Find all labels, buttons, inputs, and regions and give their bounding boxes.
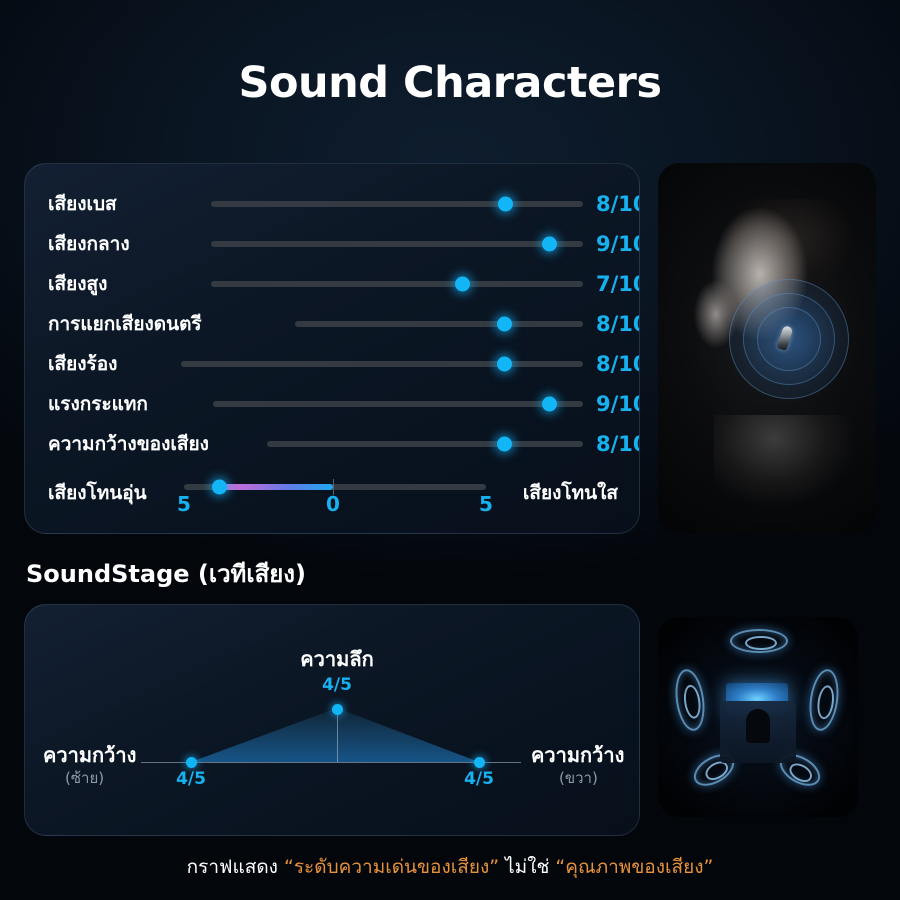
bipolar-left-label: เสียงโทนอุ่น bbox=[48, 478, 147, 508]
slider-value: 7/10 bbox=[596, 272, 640, 296]
slider-value: 9/10 bbox=[596, 392, 640, 416]
page-root: Sound Characters เสียงเบส8/10เสียงกลาง9/… bbox=[0, 0, 900, 900]
soundstage-area-fill bbox=[25, 605, 640, 836]
neck-shape bbox=[714, 415, 864, 534]
slider-knob[interactable] bbox=[542, 237, 557, 252]
slider-knob[interactable] bbox=[455, 277, 470, 292]
slider-row: เสียงเบส8/10 bbox=[25, 184, 640, 224]
footer-part2: ไม่ใช่ bbox=[499, 856, 555, 878]
slider-track[interactable] bbox=[211, 281, 583, 287]
soundstage-chart: ความลึก 4/5 ความกว้าง (ซ้าย) 4/5 ความกว้… bbox=[25, 605, 640, 836]
slider-row: เสียงร้อง8/10 bbox=[25, 344, 640, 384]
slider-fill bbox=[213, 401, 549, 407]
slider-fill bbox=[295, 321, 504, 327]
slider-track[interactable] bbox=[213, 401, 583, 407]
slider-row-label: เสียงสูง bbox=[48, 269, 107, 299]
bipolar-slider-track[interactable] bbox=[184, 484, 486, 490]
surround-sound-image bbox=[658, 617, 858, 817]
width-left-sublabel: (ซ้าย) bbox=[65, 766, 104, 790]
slider-value: 8/10 bbox=[596, 352, 640, 376]
slider-value: 8/10 bbox=[596, 312, 640, 336]
footer-part1: กราฟแสดง bbox=[187, 856, 284, 878]
slider-knob[interactable] bbox=[497, 437, 512, 452]
slider-value: 8/10 bbox=[596, 192, 640, 216]
slider-track[interactable] bbox=[295, 321, 583, 327]
width-right-data-point bbox=[474, 757, 485, 768]
speaker-ring-left bbox=[672, 667, 708, 732]
soundstage-section-label: SoundStage (เวทีเสียง) bbox=[26, 554, 306, 593]
bipolar-scale-label: 5 bbox=[177, 492, 191, 516]
slider-row-label: เสียงกลาง bbox=[48, 229, 130, 259]
slider-row-label: แรงกระแทก bbox=[48, 389, 148, 419]
slider-knob[interactable] bbox=[498, 197, 513, 212]
depth-value: 4/5 bbox=[322, 675, 352, 695]
slider-track[interactable] bbox=[267, 441, 583, 447]
slider-track[interactable] bbox=[211, 201, 583, 207]
depth-data-point bbox=[332, 704, 343, 715]
sound-characters-card: เสียงเบส8/10เสียงกลาง9/10เสียงสูง7/10การ… bbox=[24, 163, 640, 534]
slider-knob[interactable] bbox=[497, 357, 512, 372]
slider-knob[interactable] bbox=[542, 397, 557, 412]
slider-row: ความกว้างของเสียง8/10 bbox=[25, 424, 640, 464]
soundstage-card: ความลึก 4/5 ความกว้าง (ซ้าย) 4/5 ความกว้… bbox=[24, 604, 640, 836]
width-right-sublabel: (ขวา) bbox=[559, 766, 598, 790]
soundstage-horizontal-axis bbox=[141, 762, 521, 763]
footer-highlight1: “ระดับความเด่นของเสียง” bbox=[284, 856, 499, 878]
slider-track[interactable] bbox=[211, 241, 583, 247]
slider-row: เสียงสูง7/10 bbox=[25, 264, 640, 304]
slider-knob[interactable] bbox=[497, 317, 512, 332]
speaker-ring-top bbox=[730, 629, 788, 653]
width-left-value: 4/5 bbox=[176, 769, 206, 789]
slider-rows-container: เสียงเบส8/10เสียงกลาง9/10เสียงสูง7/10การ… bbox=[25, 164, 640, 534]
slider-row-label: การแยกเสียงดนตรี bbox=[48, 309, 202, 339]
slider-fill bbox=[211, 281, 462, 287]
bipolar-scale-label: 0 bbox=[326, 492, 340, 516]
slider-row: เสียงกลาง9/10 bbox=[25, 224, 640, 264]
footer-note: กราฟแสดง “ระดับความเด่นของเสียง” ไม่ใช่ … bbox=[0, 852, 900, 882]
slider-fill bbox=[181, 361, 504, 367]
bipolar-right-label: เสียงโทนใส bbox=[523, 478, 618, 508]
bipolar-slider-knob[interactable] bbox=[212, 480, 227, 495]
bipolar-slider-row: เสียงโทนอุ่นเสียงโทนใส505 bbox=[25, 470, 640, 526]
bipolar-scale-label: 5 bbox=[479, 492, 493, 516]
slider-row-label: ความกว้างของเสียง bbox=[48, 429, 209, 459]
slider-track[interactable] bbox=[181, 361, 583, 367]
footer-highlight2: “คุณภาพของเสียง” bbox=[555, 856, 713, 878]
slider-row: การแยกเสียงดนตรี8/10 bbox=[25, 304, 640, 344]
slider-row-label: เสียงร้อง bbox=[48, 349, 117, 379]
soundstage-vertical-axis bbox=[337, 707, 338, 762]
slider-fill bbox=[267, 441, 504, 447]
slider-value: 9/10 bbox=[596, 232, 640, 256]
bipolar-slider-fill bbox=[219, 484, 333, 490]
depth-label: ความลึก bbox=[300, 643, 373, 675]
person-silhouette bbox=[746, 709, 770, 743]
slider-fill bbox=[211, 241, 549, 247]
slider-row: แรงกระแทก9/10 bbox=[25, 384, 640, 424]
speaker-ring-right bbox=[806, 667, 842, 732]
slider-fill bbox=[211, 201, 505, 207]
slider-value: 8/10 bbox=[596, 432, 640, 456]
width-left-data-point bbox=[186, 757, 197, 768]
page-title: Sound Characters bbox=[0, 58, 900, 108]
width-right-value: 4/5 bbox=[464, 769, 494, 789]
man-profile-with-earbud-image bbox=[658, 163, 876, 534]
slider-row-label: เสียงเบส bbox=[48, 189, 117, 219]
